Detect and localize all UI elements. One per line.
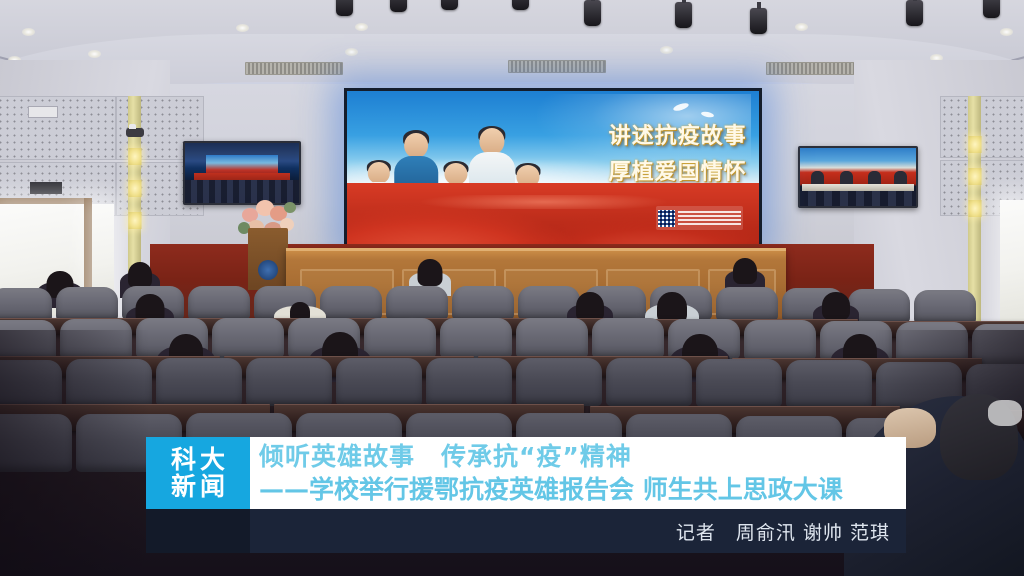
acoustic-panel xyxy=(940,96,1024,158)
air-vent xyxy=(245,62,343,75)
headline-line1: 倾听英雄故事 传承抗“疫”精神 xyxy=(259,440,898,473)
air-vent xyxy=(508,60,606,73)
lectern xyxy=(248,228,288,290)
stage-headline-line1: 讲述抗疫故事 xyxy=(609,118,747,150)
window xyxy=(1000,200,1024,326)
air-vent xyxy=(766,62,860,75)
led-corner-credit xyxy=(656,206,743,230)
stage-spotlight xyxy=(983,0,1000,18)
stage-spotlight xyxy=(750,8,767,34)
right-monitor-content xyxy=(800,148,916,206)
channel-logo-line2: 新闻 xyxy=(167,473,229,500)
column-lamp xyxy=(128,148,141,165)
auditorium-seat xyxy=(516,358,602,406)
auditorium-seat xyxy=(188,286,250,320)
auditorium-seat xyxy=(716,287,778,321)
auditorium-seat xyxy=(440,318,512,358)
stage-headline-line2: 厚植爱国情怀 xyxy=(609,154,747,186)
qr-code-icon xyxy=(658,210,675,227)
auditorium-seat xyxy=(246,358,332,406)
headline-bar: 倾听英雄故事 传承抗“疫”精神 ——学校举行援鄂抗疫英雄报告会 师生共上思政大课 xyxy=(250,437,906,509)
column-lamp xyxy=(128,180,141,197)
wall-sign xyxy=(28,106,58,118)
headline-line2: ——学校举行援鄂抗疫英雄报告会 师生共上思政大课 xyxy=(259,473,898,507)
camera-icon xyxy=(126,128,144,137)
downlight-icon xyxy=(236,24,249,32)
monitor-seating xyxy=(800,191,916,206)
channel-logo-line1: 科大 xyxy=(167,446,229,473)
auditorium-seat xyxy=(336,358,422,406)
auditorium-seat xyxy=(320,286,382,320)
auditorium-seat xyxy=(364,318,436,358)
led-screen-content: 讲述抗疫故事 厚植爱国情怀 xyxy=(347,91,759,249)
stage-spotlight xyxy=(336,0,353,16)
auditorium-seat xyxy=(156,358,242,406)
auditorium-seat xyxy=(592,318,664,358)
acoustic-panel xyxy=(0,96,116,160)
wall-speaker xyxy=(30,182,62,194)
left-display-monitor xyxy=(183,141,301,205)
reporter-byline: 记者 周俞汛 谢帅 范琪 xyxy=(676,518,890,545)
channel-logo: 科大 新闻 xyxy=(146,437,250,509)
downlight-icon xyxy=(795,23,808,31)
monitor-desk xyxy=(802,184,913,191)
face-mask-icon xyxy=(988,400,1022,426)
auditorium-seat xyxy=(786,360,872,408)
auditorium-seat xyxy=(212,318,284,358)
stage-spotlight xyxy=(584,0,601,26)
auditorium-seat xyxy=(0,288,52,322)
column-lamp xyxy=(968,136,981,153)
column-lamp xyxy=(968,200,981,217)
left-monitor-content xyxy=(185,143,299,203)
auditorium-seat xyxy=(696,359,782,407)
downlight-icon xyxy=(345,48,358,56)
auditorium-seat xyxy=(56,287,118,321)
auditorium-seat xyxy=(386,286,448,320)
broadcast-frame: 讲述抗疫故事 厚植爱国情怀 xyxy=(0,0,1024,576)
downlight-icon xyxy=(88,50,101,58)
auditorium-seat xyxy=(744,320,816,360)
downlight-icon xyxy=(355,23,368,31)
stage-spotlight xyxy=(906,0,923,26)
left-vignette xyxy=(0,330,150,576)
auditorium-seat xyxy=(914,290,976,324)
stage-spotlight xyxy=(675,2,692,28)
downlight-icon xyxy=(660,46,673,54)
auditorium-seat xyxy=(606,358,692,406)
downlight-icon xyxy=(22,28,35,36)
stage-spotlight xyxy=(390,0,407,12)
auditorium-seat xyxy=(452,286,514,320)
column-lamp xyxy=(968,168,981,185)
stage-led-screen: 讲述抗疫故事 厚植爱国情怀 xyxy=(344,88,762,252)
lower-third-graphic: 科大 新闻 倾听英雄故事 传承抗“疫”精神 ——学校举行援鄂抗疫英雄报告会 师生… xyxy=(146,437,906,576)
stage-spotlight xyxy=(441,0,458,10)
downlight-icon xyxy=(1000,28,1013,36)
column-lamp xyxy=(128,212,141,229)
right-display-monitor xyxy=(798,146,918,208)
credit-lines xyxy=(678,211,741,225)
auditorium-seat xyxy=(426,358,512,406)
stage-spotlight xyxy=(512,0,529,10)
auditorium-seat xyxy=(516,318,588,358)
byline-bar: 记者 周俞汛 谢帅 范琪 xyxy=(146,509,906,553)
